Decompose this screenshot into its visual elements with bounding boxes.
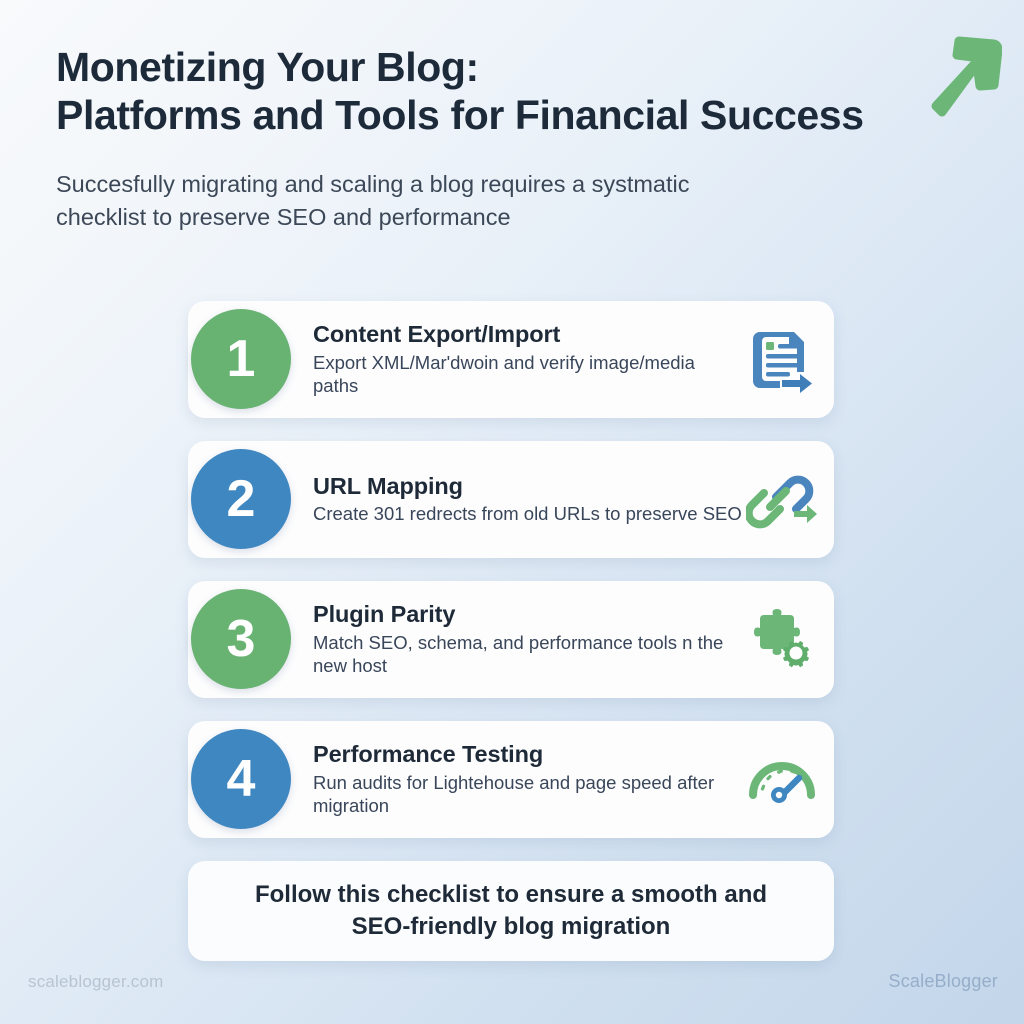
step-text-3: Plugin Parity Match SEO, schema, and per…: [313, 601, 742, 678]
step-desc-1: Export XML/Mar'dwoin and verify image/me…: [313, 352, 742, 398]
document-export-icon: [744, 325, 820, 395]
page-title: Monetizing Your Blog: Platforms and Tool…: [56, 44, 956, 140]
step-badge-3: 3: [191, 589, 291, 689]
step-card-2[interactable]: 2 URL Mapping Create 301 redrects from o…: [188, 441, 834, 558]
step-title-4: Performance Testing: [313, 741, 742, 769]
step-desc-3: Match SEO, schema, and performance tools…: [313, 632, 742, 678]
step-text-2: URL Mapping Create 301 redrects from old…: [313, 473, 742, 527]
watermark-brand: ScaleBlogger: [889, 971, 998, 992]
step-title-1: Content Export/Import: [313, 321, 742, 349]
header: Monetizing Your Blog: Platforms and Tool…: [56, 44, 956, 235]
page-subtitle: Succesfully migrating and scaling a blog…: [56, 168, 856, 235]
step-card-4[interactable]: 4 Performance Testing Run audits for Lig…: [188, 721, 834, 838]
step-card-3[interactable]: 3 Plugin Parity Match SEO, schema, and p…: [188, 581, 834, 698]
step-badge-1: 1: [191, 309, 291, 409]
summary-banner-text: Follow this checklist to ensure a smooth…: [255, 879, 767, 944]
step-title-2: URL Mapping: [313, 473, 742, 501]
step-text-4: Performance Testing Run audits for Light…: [313, 741, 742, 818]
puzzle-gear-icon: [744, 605, 820, 675]
step-desc-2: Create 301 redrects from old URLs to pre…: [313, 503, 742, 526]
summary-banner: Follow this checklist to ensure a smooth…: [188, 861, 834, 961]
watermark-domain: scaleblogger.com: [28, 972, 164, 992]
speedometer-gauge-icon: [744, 745, 820, 815]
chain-link-redirect-icon: [744, 465, 820, 535]
step-desc-4: Run audits for Lightehouse and page spee…: [313, 772, 742, 818]
step-badge-2: 2: [191, 449, 291, 549]
step-badge-4: 4: [191, 729, 291, 829]
steps-list: 1 Content Export/Import Export XML/Mar'd…: [188, 301, 834, 961]
step-card-1[interactable]: 1 Content Export/Import Export XML/Mar'd…: [188, 301, 834, 418]
step-title-3: Plugin Parity: [313, 601, 742, 629]
arrow-up-right-icon: [914, 28, 1002, 128]
step-text-1: Content Export/Import Export XML/Mar'dwo…: [313, 321, 742, 398]
